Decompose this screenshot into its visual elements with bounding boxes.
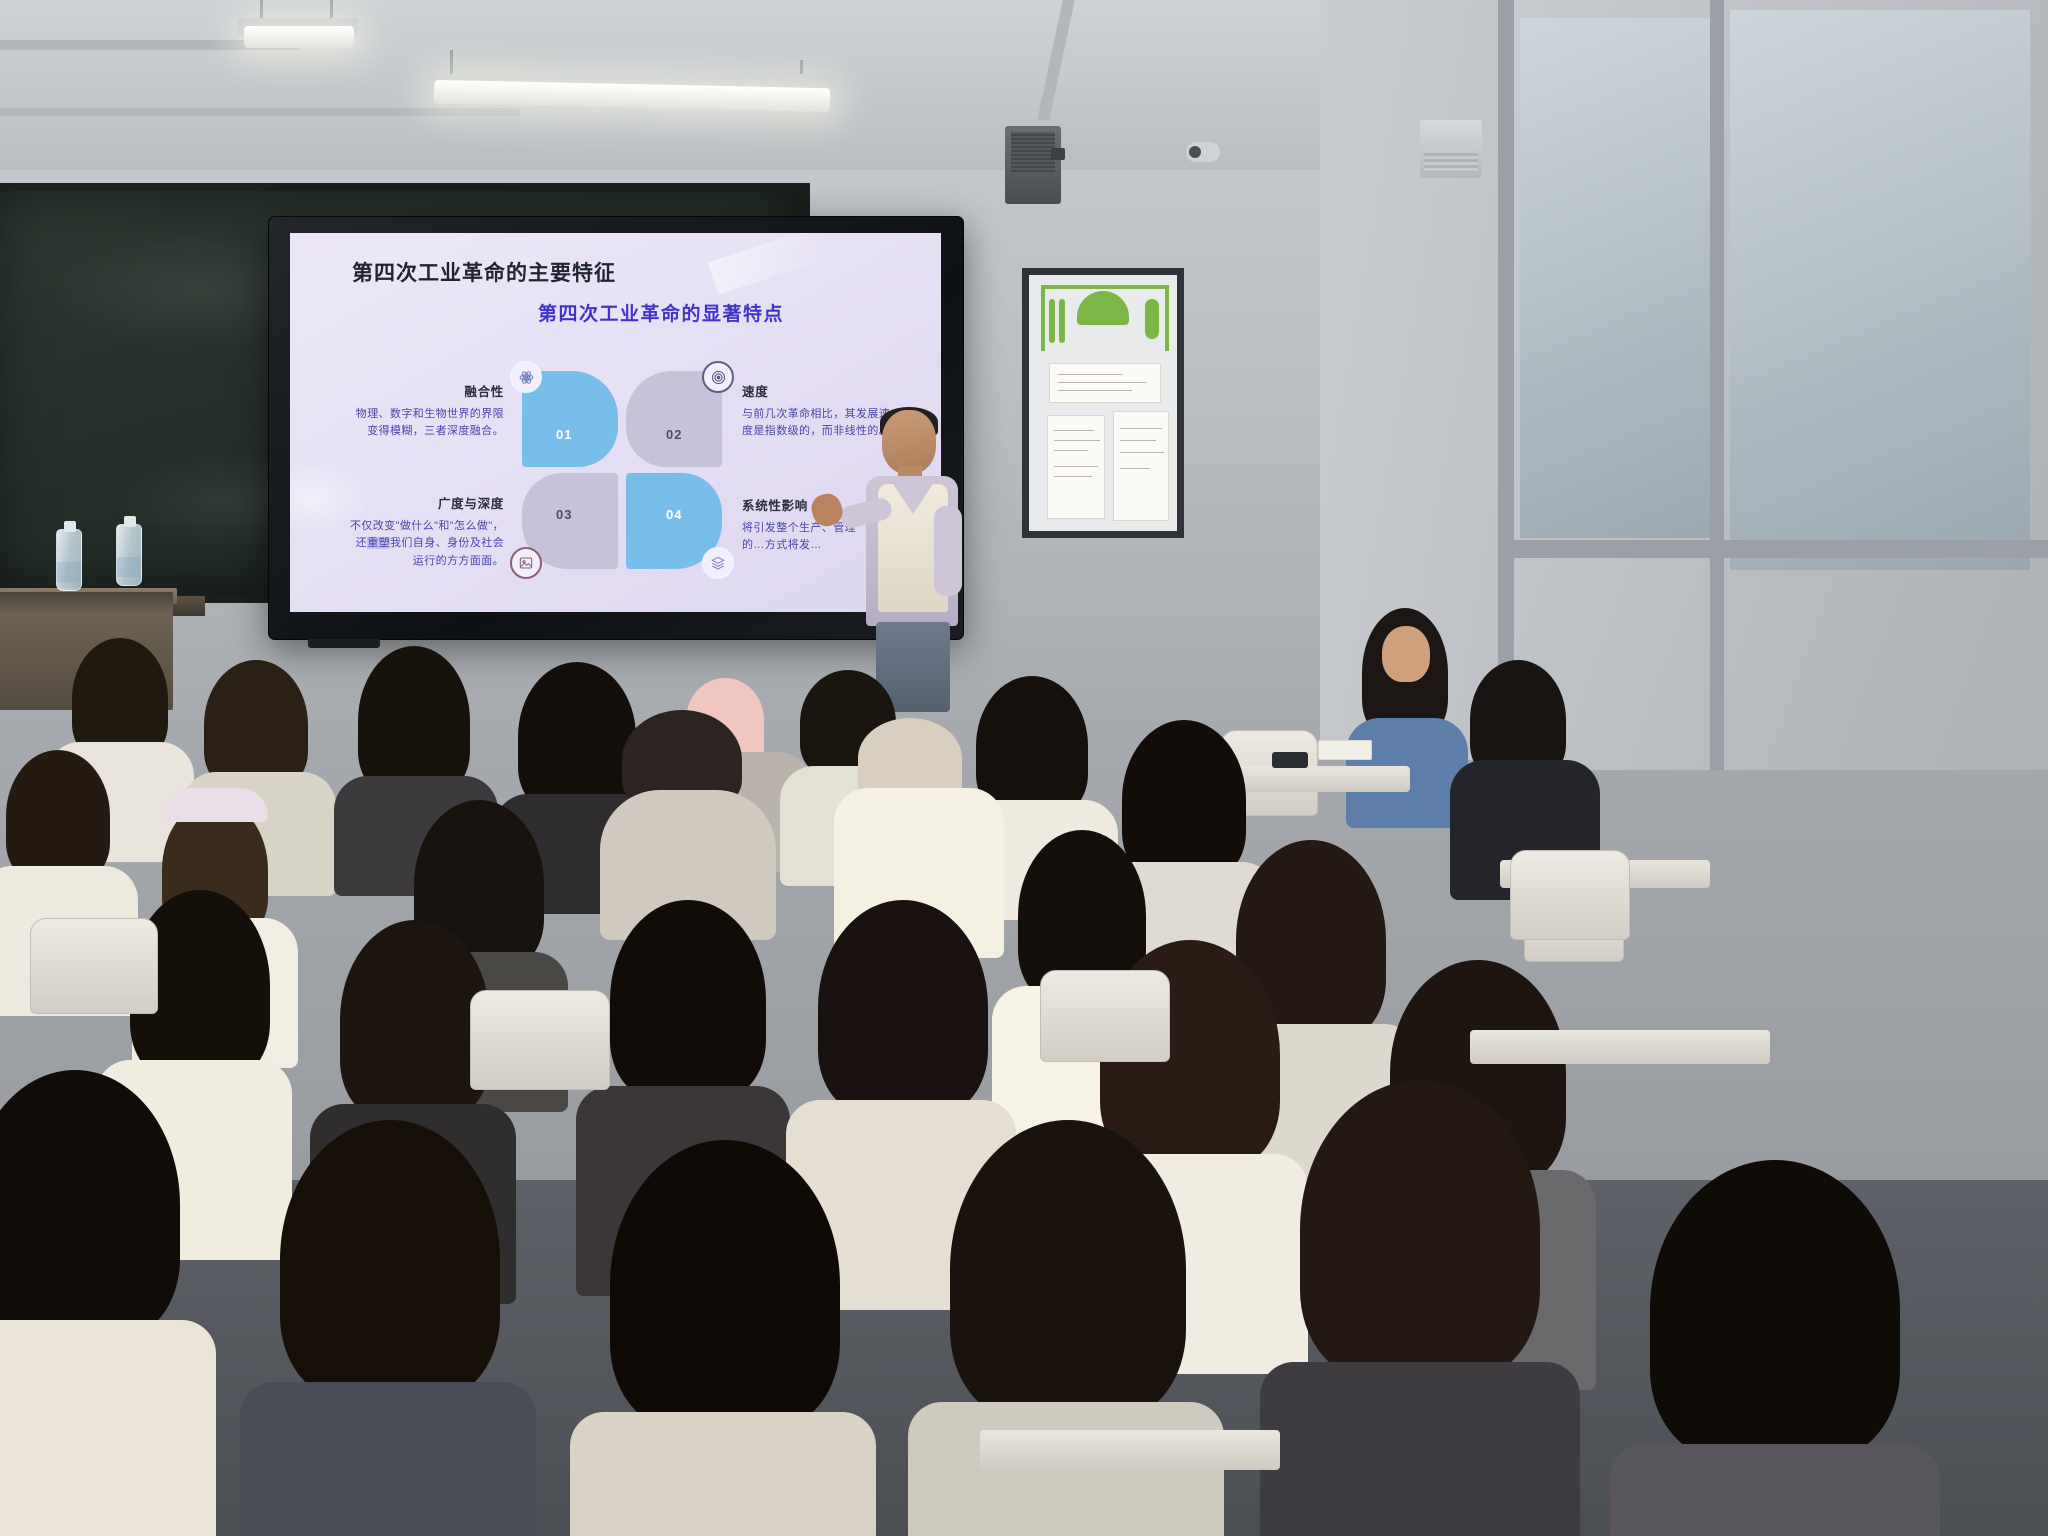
ceiling-light [244, 26, 354, 48]
ceiling-camera [1186, 142, 1220, 162]
air-conditioner [1420, 120, 1482, 178]
label-02-heading: 速度 [742, 381, 934, 400]
desk [980, 1430, 1280, 1470]
label-03-body: 不仅改变"做什么"和"怎么做"， 还重塑我们自身、身份及社会 运行的方方面面。 [302, 518, 504, 570]
petal-04: 04 [626, 473, 722, 569]
petal-01: 01 [522, 371, 618, 467]
label-03: 广度与深度 不仅改变"做什么"和"怎么做"， 还重塑我们自身、身份及社会 运行的… [302, 493, 504, 570]
chair [1510, 850, 1630, 940]
wall-bulletin-board [1022, 268, 1184, 538]
target-icon [702, 361, 734, 393]
water-bottle [116, 524, 142, 586]
instructor-head [882, 410, 936, 474]
chair [30, 918, 158, 1014]
petal-number-01: 01 [556, 427, 572, 442]
slide-subtitle: 第四次工业革命的显著特点 [538, 299, 784, 326]
slide-title: 第四次工业革命的主要特征 [352, 257, 616, 287]
chair [1040, 970, 1170, 1062]
petal-number-03: 03 [556, 507, 572, 522]
label-01-body: 物理、数字和生物世界的界限 变得模糊，三者深度融合。 [306, 406, 504, 441]
notebook [1318, 740, 1372, 760]
petal-02: 02 [626, 371, 722, 467]
label-03-heading: 广度与深度 [302, 493, 504, 512]
petal-number-04: 04 [666, 507, 682, 522]
water-bottle [56, 529, 82, 591]
headband [164, 788, 268, 822]
layers-icon [702, 547, 734, 579]
desk [1470, 1030, 1770, 1064]
instructor-right-arm [934, 506, 962, 596]
label-01-heading: 融合性 [306, 381, 504, 400]
wall-speaker [1005, 126, 1061, 204]
atom-icon [510, 361, 542, 393]
student-area [0, 600, 2048, 1536]
ceiling-beam [0, 108, 520, 116]
pinwheel-diagram: 01 02 [518, 367, 730, 571]
classroom-scene: 第四次工业革命的主要特征 第四次工业革命的显著特点 01 [0, 0, 2048, 1536]
smartphone [1272, 752, 1308, 768]
petal-number-02: 02 [666, 427, 682, 442]
chair [470, 990, 610, 1090]
image-chart-icon [510, 547, 542, 579]
label-01: 融合性 物理、数字和生物世界的界限 变得模糊，三者深度融合。 [306, 381, 504, 441]
petal-03: 03 [522, 473, 618, 569]
